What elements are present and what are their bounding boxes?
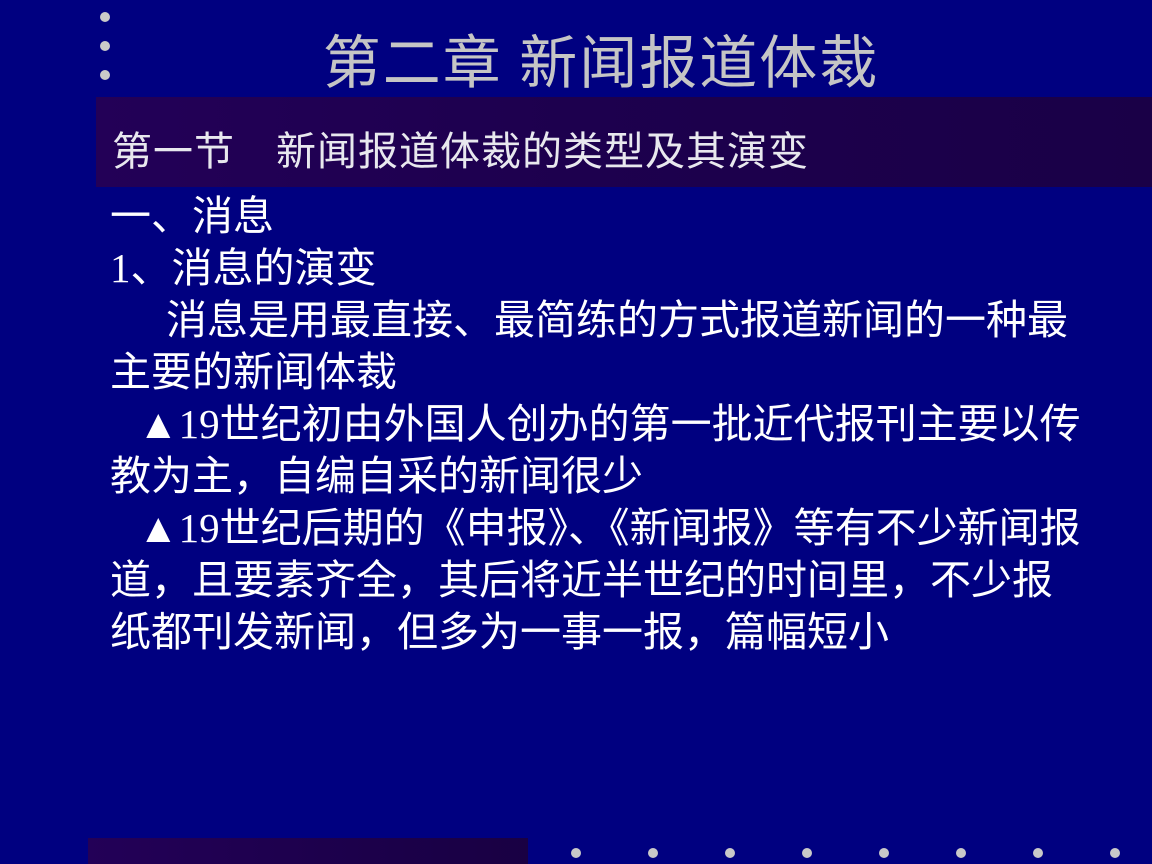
body-paragraph: ▲19世纪后期的《申报》、《新闻报》等有不少新闻报道，且要素齐全，其后将近半世纪… <box>110 502 1090 658</box>
slide-title: 第二章 新闻报道体裁 <box>0 28 1152 100</box>
bullet-dot-icon <box>648 848 658 858</box>
bullet-dot-icon <box>571 848 581 858</box>
presentation-slide: 第二章 新闻报道体裁 第一节 新闻报道体裁的类型及其演变 一、消息1、消息的演变… <box>0 0 1152 864</box>
bullet-dot-icon <box>1033 848 1043 858</box>
body-paragraph: ▲19世纪初由外国人创办的第一批近代报刊主要以传教为主，自编自采的新闻很少 <box>110 398 1090 502</box>
bullet-dot-icon <box>100 12 110 22</box>
bullet-dot-icon <box>956 848 966 858</box>
bullet-dot-icon <box>879 848 889 858</box>
footer-dot-decoration <box>571 848 1151 860</box>
body-paragraph: 一、消息 <box>110 190 1090 242</box>
bullet-dot-icon <box>802 848 812 858</box>
footer-band <box>88 838 528 864</box>
slide-subtitle: 第一节 新闻报道体裁的类型及其演变 <box>112 128 809 176</box>
slide-body: 一、消息1、消息的演变消息是用最直接、最简练的方式报道新闻的一种最主要的新闻体裁… <box>110 190 1090 658</box>
body-paragraph: 1、消息的演变 <box>110 242 1090 294</box>
bullet-dot-icon <box>1110 848 1120 858</box>
bullet-dot-icon <box>725 848 735 858</box>
body-paragraph: 消息是用最直接、最简练的方式报道新闻的一种最主要的新闻体裁 <box>110 294 1090 398</box>
